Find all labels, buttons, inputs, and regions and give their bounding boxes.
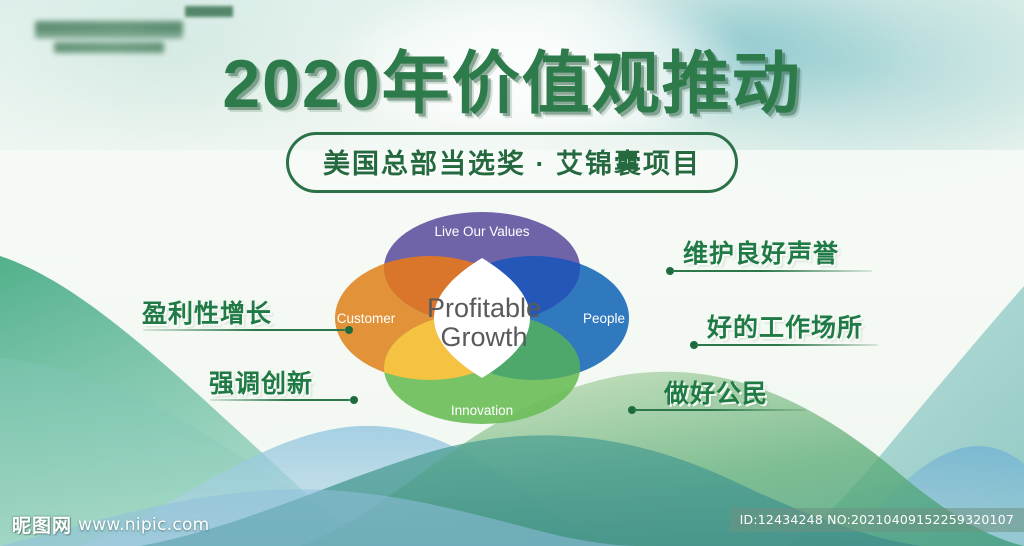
label-good-reputation: 维护良好声誉: [683, 234, 839, 270]
nipic-watermark: 昵图网 www.nipic.com: [12, 511, 210, 538]
leader-line-good-workplace: [690, 340, 880, 350]
venn-label-people: People: [583, 311, 625, 326]
subtitle-pill: 美国总部当选奖 · 艾锦囊项目: [286, 132, 738, 193]
label-good-workplace: 好的工作场所: [707, 308, 863, 344]
nipic-url: www.nipic.com: [78, 515, 210, 535]
venn-label-customer: Customer: [337, 311, 396, 326]
title-block: 2020年价值观推动 美国总部当选奖 · 艾锦囊项目: [0, 50, 1024, 193]
venn-center-line1: Profitable: [427, 293, 541, 323]
venn-center-line2: Growth: [440, 322, 527, 352]
logo-dash-accent: [185, 6, 233, 17]
leader-line-good-reputation: [666, 266, 876, 276]
image-id-watermark: ID:12434248 NO:20210409152259320107: [730, 508, 1024, 532]
leader-line-emphasize-innovation: [210, 395, 358, 405]
venn-label-innovation: Innovation: [451, 403, 513, 418]
leader-line-good-citizen: [628, 405, 808, 415]
poster-canvas: 2020年价值观推动 美国总部当选奖 · 艾锦囊项目: [0, 0, 1024, 546]
venn-diagram: Live Our Values People Innovation Custom…: [322, 196, 642, 436]
page-title: 2020年价值观推动: [0, 50, 1024, 118]
nipic-brand-cn: 昵图网: [12, 511, 72, 538]
leader-line-profit-growth: [143, 325, 353, 335]
venn-label-live-our-values: Live Our Values: [434, 224, 529, 239]
